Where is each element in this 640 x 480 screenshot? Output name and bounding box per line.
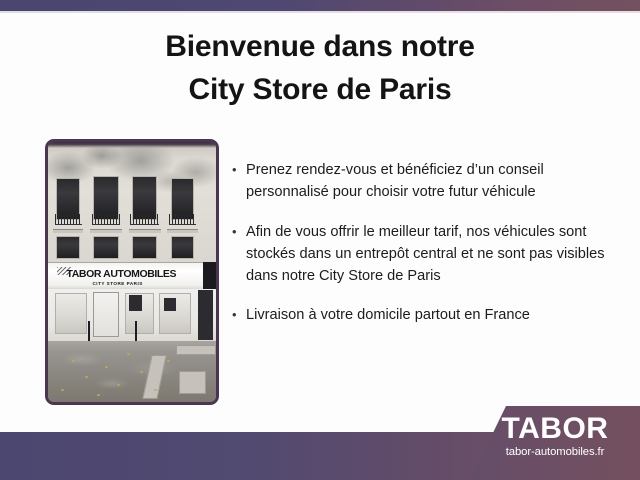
bullet-marker-icon: • <box>232 160 246 180</box>
tabor-logo-wordmark: TABOR <box>480 414 630 445</box>
shop-door <box>93 292 118 338</box>
fallen-leaf <box>117 384 120 386</box>
bullet-marker-icon: • <box>232 305 246 325</box>
fallen-leaf <box>85 376 88 378</box>
fallen-leaf <box>127 353 130 355</box>
storefront-photo: TABOR AUTOMOBILES CITY STORE PARIS <box>48 142 216 402</box>
shop-interior-dark <box>164 298 176 311</box>
title-line-1: Bienvenue dans notre <box>0 26 640 69</box>
title-line-2: City Store de Paris <box>0 69 640 112</box>
fallen-leaf <box>105 366 108 368</box>
balcony-rail <box>169 214 196 225</box>
shop-side-panel <box>198 290 213 339</box>
bullet-text: Afin de vous offrir le meilleur tarif, n… <box>246 222 624 288</box>
shop-interior-dark <box>129 295 142 311</box>
bullet-list: • Prenez rendez-vous et bénéficiez d’un … <box>232 160 624 345</box>
bullet-text: Livraison à votre domicile partout en Fr… <box>246 305 624 327</box>
top-accent-underline <box>0 11 640 13</box>
facade-window <box>56 236 80 259</box>
tabor-logo-url: tabor-automobiles.fr <box>480 447 630 458</box>
fallen-leaf <box>154 389 157 391</box>
storefront-sign-main: TABOR AUTOMOBILES <box>66 268 176 280</box>
window-ledge <box>90 229 122 233</box>
balcony-rail <box>130 214 159 225</box>
balcony-rail <box>92 214 121 225</box>
storefront-sign-sub: CITY STORE PARIS <box>92 282 176 287</box>
tabor-logo: TABOR tabor-automobiles.fr <box>480 414 630 458</box>
list-item: • Afin de vous offrir le meilleur tarif,… <box>232 222 624 288</box>
storefront-photo-frame: TABOR AUTOMOBILES CITY STORE PARIS <box>45 139 219 405</box>
balcony-rail <box>55 214 82 225</box>
shop-window <box>55 293 87 335</box>
slide-title: Bienvenue dans notre City Store de Paris <box>0 26 640 111</box>
window-ledge <box>129 229 161 233</box>
top-accent-bar <box>0 0 640 11</box>
window-ledge <box>53 229 83 233</box>
facade-window <box>171 236 195 259</box>
facade-window <box>93 236 118 259</box>
bullet-marker-icon: • <box>232 222 246 242</box>
storefront-sign-text: TABOR AUTOMOBILES CITY STORE PARIS <box>66 265 176 287</box>
window-ledge <box>167 229 197 233</box>
list-item: • Prenez rendez-vous et bénéficiez d’un … <box>232 160 624 204</box>
presentation-slide: Bienvenue dans notre City Store de Paris <box>0 0 640 480</box>
facade-window <box>132 236 157 259</box>
curb-edge <box>176 345 216 355</box>
list-item: • Livraison à votre domicile partout en … <box>232 305 624 327</box>
curb-stone <box>179 371 206 394</box>
bullet-text: Prenez rendez-vous et bénéficiez d’un co… <box>246 160 624 204</box>
